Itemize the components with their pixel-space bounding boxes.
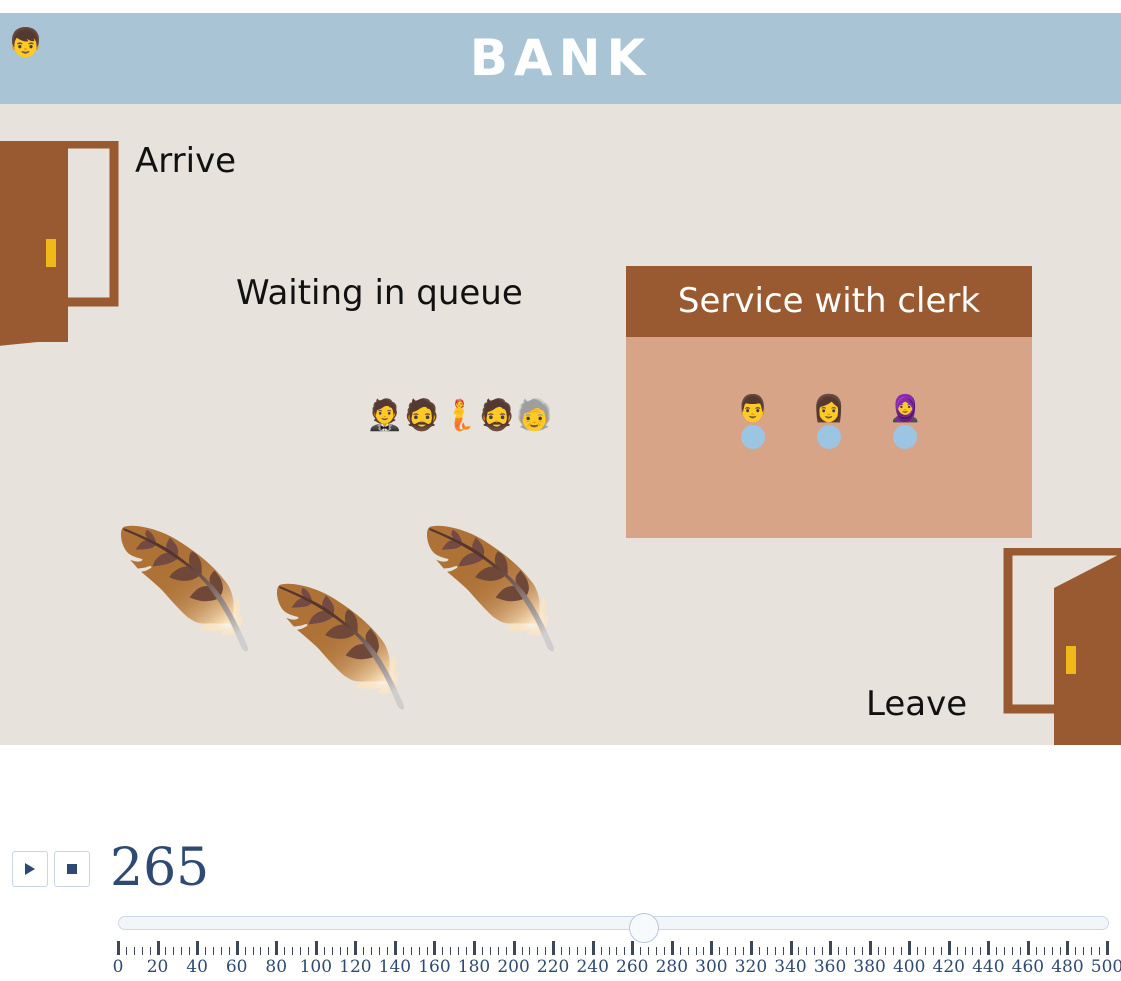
- tick-minor: [703, 947, 704, 955]
- tick-label: 280: [656, 957, 688, 977]
- tick-major: [829, 941, 832, 955]
- tick-minor: [411, 947, 412, 955]
- queue-person: 🧜: [441, 401, 478, 431]
- clerk-person-icon: 👩: [813, 396, 845, 422]
- tick-major: [315, 941, 318, 955]
- tick-minor: [189, 947, 190, 955]
- tick-major: [1066, 941, 1069, 955]
- tick-minor: [640, 947, 641, 955]
- stop-button[interactable]: [54, 851, 90, 887]
- tick-minor: [134, 947, 135, 955]
- corner-person-icon: 👦: [8, 29, 43, 57]
- tick-major: [117, 941, 120, 955]
- play-triangle-icon: [25, 863, 35, 875]
- tick-minor: [181, 947, 182, 955]
- tick-minor: [696, 947, 697, 955]
- tick-major: [157, 941, 160, 955]
- tick-label: 180: [458, 957, 490, 977]
- clerk-slot-indicator: [741, 425, 765, 449]
- clerk-person-icon: 🧕: [889, 396, 921, 422]
- tick-minor: [925, 947, 926, 955]
- potted-plant: 🪶: [112, 533, 256, 649]
- playback-controls: 265 020406080100120140160180200220240260…: [0, 845, 1121, 981]
- tick-major: [1106, 941, 1109, 955]
- tick-major: [869, 941, 872, 955]
- clerk-stations: 👨 👩 🧕: [626, 396, 1032, 449]
- tick-major: [433, 941, 436, 955]
- tick-minor: [577, 947, 578, 955]
- tick-minor: [885, 947, 886, 955]
- tick-minor: [300, 947, 301, 955]
- tick-minor: [1091, 947, 1092, 955]
- tick-major: [473, 941, 476, 955]
- stop-square-icon: [67, 864, 77, 874]
- tick-major: [710, 941, 713, 955]
- tick-minor: [284, 947, 285, 955]
- tick-major: [354, 941, 357, 955]
- tick-minor: [506, 947, 507, 955]
- tick-minor: [292, 947, 293, 955]
- tick-minor: [1083, 947, 1084, 955]
- play-button[interactable]: [12, 851, 48, 887]
- tick-label: 420: [933, 957, 965, 977]
- tick-minor: [1020, 947, 1021, 955]
- page-title: BANK: [0, 13, 1121, 104]
- tick-minor: [838, 947, 839, 955]
- tick-minor: [458, 947, 459, 955]
- tick-minor: [165, 947, 166, 955]
- tick-minor: [585, 947, 586, 955]
- tick-minor: [1052, 947, 1053, 955]
- tick-minor: [522, 947, 523, 955]
- tick-minor: [743, 947, 744, 955]
- tick-major: [592, 941, 595, 955]
- tick-minor: [529, 947, 530, 955]
- tick-label: 360: [814, 957, 846, 977]
- tick-label: 460: [1012, 957, 1044, 977]
- tick-minor: [624, 947, 625, 955]
- tick-minor: [537, 947, 538, 955]
- tick-minor: [466, 947, 467, 955]
- tick-major: [552, 941, 555, 955]
- tick-label: 100: [300, 957, 332, 977]
- label-waiting-in-queue: Waiting in queue: [236, 273, 523, 313]
- clerk-station: 🧕: [889, 396, 921, 449]
- tick-minor: [142, 947, 143, 955]
- tick-minor: [150, 947, 151, 955]
- tick-major: [196, 941, 199, 955]
- tick-minor: [268, 947, 269, 955]
- tick-minor: [616, 947, 617, 955]
- simulation-scene: BANK 👦 Arrive Waiting in queue 🤵 🧔 🧜 🧔 🧓…: [0, 13, 1121, 745]
- transport-buttons: [12, 851, 90, 887]
- tick-minor: [561, 947, 562, 955]
- tick-label: 480: [1051, 957, 1083, 977]
- queue-person: 🧔: [478, 401, 515, 431]
- label-arrive: Arrive: [135, 141, 236, 181]
- tick-minor: [482, 947, 483, 955]
- slider-tick-marks: [118, 939, 1107, 955]
- tick-label: 400: [893, 957, 925, 977]
- tick-label: 80: [265, 957, 287, 977]
- tick-minor: [490, 947, 491, 955]
- tick-minor: [917, 947, 918, 955]
- tick-minor: [719, 947, 720, 955]
- current-time-value: 265: [110, 837, 209, 899]
- tick-minor: [419, 947, 420, 955]
- tick-label: 200: [497, 957, 529, 977]
- service-desk-title: Service with clerk: [626, 266, 1032, 337]
- tick-label: 380: [853, 957, 885, 977]
- open-door-icon: [998, 548, 1121, 745]
- tick-major: [513, 941, 516, 955]
- slider-tick-labels: 0204060801001201401601802002202402602803…: [118, 957, 1107, 981]
- tick-major: [987, 941, 990, 955]
- tick-minor: [601, 947, 602, 955]
- tick-minor: [260, 947, 261, 955]
- exit-door: [998, 548, 1121, 745]
- tick-minor: [126, 947, 127, 955]
- tick-label: 220: [537, 957, 569, 977]
- tick-minor: [403, 947, 404, 955]
- tick-minor: [1060, 947, 1061, 955]
- tick-minor: [965, 947, 966, 955]
- tick-minor: [229, 947, 230, 955]
- tick-minor: [688, 947, 689, 955]
- tick-minor: [656, 947, 657, 955]
- tick-label: 0: [113, 957, 124, 977]
- tick-minor: [205, 947, 206, 955]
- queue-person: 🤵: [366, 401, 403, 431]
- time-slider-area: 0204060801001201401601802002202402602803…: [118, 911, 1107, 981]
- tick-minor: [1012, 947, 1013, 955]
- tick-minor: [767, 947, 768, 955]
- clerk-slot-indicator: [817, 425, 841, 449]
- tick-minor: [427, 947, 428, 955]
- tick-minor: [680, 947, 681, 955]
- tick-label: 20: [147, 957, 169, 977]
- tick-major: [750, 941, 753, 955]
- time-slider-track[interactable]: [118, 916, 1109, 930]
- service-desk: Service with clerk 👨 👩 🧕: [626, 266, 1032, 538]
- tick-minor: [1044, 947, 1045, 955]
- tick-minor: [1075, 947, 1076, 955]
- tick-major: [790, 941, 793, 955]
- tick-label: 140: [379, 957, 411, 977]
- tick-minor: [245, 947, 246, 955]
- customer-queue: 🤵 🧔 🧜 🧔 🧓: [366, 401, 553, 431]
- tick-minor: [648, 947, 649, 955]
- tick-minor: [972, 947, 973, 955]
- tick-minor: [759, 947, 760, 955]
- tick-minor: [569, 947, 570, 955]
- tick-minor: [957, 947, 958, 955]
- tick-minor: [664, 947, 665, 955]
- entrance-door: [0, 141, 124, 346]
- tick-minor: [822, 947, 823, 955]
- tick-minor: [980, 947, 981, 955]
- tick-label: 260: [616, 957, 648, 977]
- tick-minor: [387, 947, 388, 955]
- tick-major: [275, 941, 278, 955]
- tick-minor: [371, 947, 372, 955]
- tick-minor: [901, 947, 902, 955]
- tick-label: 160: [418, 957, 450, 977]
- tick-label: 300: [695, 957, 727, 977]
- tick-minor: [933, 947, 934, 955]
- tick-minor: [996, 947, 997, 955]
- tick-minor: [379, 947, 380, 955]
- clerk-station: 👨: [736, 396, 768, 449]
- open-door-icon: [0, 141, 124, 346]
- tick-minor: [253, 947, 254, 955]
- tick-major: [394, 941, 397, 955]
- tick-minor: [609, 947, 610, 955]
- tick-label: 40: [186, 957, 208, 977]
- tick-label: 320: [735, 957, 767, 977]
- tick-minor: [862, 947, 863, 955]
- tick-minor: [347, 947, 348, 955]
- tick-minor: [854, 947, 855, 955]
- tick-minor: [173, 947, 174, 955]
- tick-minor: [798, 947, 799, 955]
- tick-minor: [340, 947, 341, 955]
- tick-minor: [735, 947, 736, 955]
- queue-person: 🧓: [515, 401, 552, 431]
- tick-minor: [308, 947, 309, 955]
- tick-minor: [1004, 947, 1005, 955]
- label-leave: Leave: [866, 684, 967, 724]
- tick-minor: [324, 947, 325, 955]
- tick-label: 120: [339, 957, 371, 977]
- tick-minor: [775, 947, 776, 955]
- potted-plant: 🪶: [418, 533, 562, 649]
- tick-minor: [806, 947, 807, 955]
- tick-major: [948, 941, 951, 955]
- tick-minor: [783, 947, 784, 955]
- tick-major: [236, 941, 239, 955]
- tick-minor: [450, 947, 451, 955]
- tick-minor: [846, 947, 847, 955]
- tick-minor: [442, 947, 443, 955]
- tick-major: [671, 941, 674, 955]
- tick-minor: [363, 947, 364, 955]
- tick-minor: [1099, 947, 1100, 955]
- tick-minor: [941, 947, 942, 955]
- clerk-slot-indicator: [893, 425, 917, 449]
- clerk-station: 👩: [813, 396, 845, 449]
- tick-minor: [1036, 947, 1037, 955]
- queue-person: 🧔: [403, 401, 440, 431]
- tick-minor: [545, 947, 546, 955]
- tick-label: 60: [226, 957, 248, 977]
- tick-label: 240: [576, 957, 608, 977]
- tick-minor: [498, 947, 499, 955]
- tick-minor: [332, 947, 333, 955]
- tick-major: [631, 941, 634, 955]
- tick-minor: [727, 947, 728, 955]
- tick-minor: [893, 947, 894, 955]
- tick-minor: [878, 947, 879, 955]
- tick-minor: [814, 947, 815, 955]
- tick-major: [1027, 941, 1030, 955]
- tick-minor: [221, 947, 222, 955]
- potted-plant: 🪶: [268, 591, 412, 707]
- bank-simulation-page: BANK 👦 Arrive Waiting in queue 🤵 🧔 🧜 🧔 🧓…: [0, 0, 1121, 981]
- tick-label: 500: [1091, 957, 1121, 977]
- tick-minor: [213, 947, 214, 955]
- clerk-person-icon: 👨: [736, 396, 768, 422]
- tick-label: 340: [774, 957, 806, 977]
- tick-label: 440: [972, 957, 1004, 977]
- tick-major: [908, 941, 911, 955]
